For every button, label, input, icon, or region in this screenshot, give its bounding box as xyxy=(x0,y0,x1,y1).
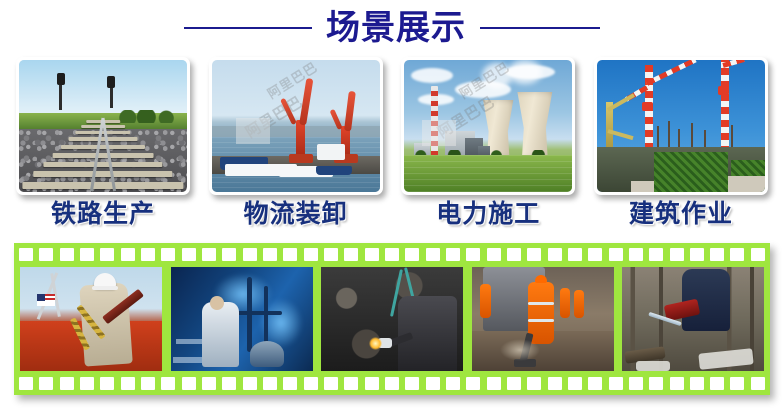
scene-label-railway: 铁路生产 xyxy=(16,198,190,234)
sprocket-hole xyxy=(80,377,94,390)
filmstrip-frame-2[interactable] xyxy=(171,267,313,371)
sprocket-row-top xyxy=(14,246,770,263)
sprocket-hole xyxy=(283,377,297,390)
sprocket-hole xyxy=(568,248,582,261)
sprocket-hole xyxy=(710,377,724,390)
sprocket-hole xyxy=(243,377,257,390)
filmstrip-frame-4[interactable] xyxy=(472,267,614,371)
sprocket-hole xyxy=(324,377,338,390)
sprocket-hole xyxy=(548,248,562,261)
worker-cutting-torch-photo xyxy=(321,267,463,371)
sprocket-hole xyxy=(263,248,277,261)
scene-label-building: 建筑作业 xyxy=(594,198,768,234)
sprocket-hole xyxy=(649,248,663,261)
sprocket-hole xyxy=(283,248,297,261)
sprocket-hole xyxy=(405,248,419,261)
sprocket-hole xyxy=(751,248,765,261)
sprocket-hole xyxy=(141,377,155,390)
sprocket-hole xyxy=(690,248,704,261)
sprocket-hole xyxy=(304,377,318,390)
sprocket-hole xyxy=(527,377,541,390)
sprocket-row-bottom xyxy=(14,375,770,392)
sprocket-hole xyxy=(426,248,440,261)
sprocket-hole xyxy=(344,377,358,390)
sprocket-hole xyxy=(527,248,541,261)
sprocket-hole xyxy=(365,248,379,261)
sprocket-hole xyxy=(60,248,74,261)
sprocket-hole xyxy=(365,377,379,390)
sprocket-hole xyxy=(385,248,399,261)
scene-photo-railway[interactable] xyxy=(16,57,190,195)
sprocket-hole xyxy=(344,248,358,261)
sprocket-hole xyxy=(670,248,684,261)
sprocket-hole xyxy=(80,248,94,261)
sprocket-hole xyxy=(39,248,53,261)
filmstrip-frame-3[interactable] xyxy=(321,267,463,371)
scene-photo-logistics[interactable]: 阿里巴巴 阿里巴巴 xyxy=(209,57,383,195)
title-rule-left xyxy=(184,27,312,29)
sprocket-hole xyxy=(19,377,33,390)
sprocket-hole xyxy=(202,377,216,390)
sprocket-hole xyxy=(609,377,623,390)
sprocket-hole xyxy=(100,248,114,261)
sprocket-hole xyxy=(507,248,521,261)
sprocket-hole xyxy=(324,248,338,261)
sprocket-hole xyxy=(304,248,318,261)
sprocket-hole xyxy=(182,248,196,261)
sprocket-hole xyxy=(39,377,53,390)
sprocket-hole xyxy=(263,377,277,390)
sprocket-hole xyxy=(121,248,135,261)
sprocket-hole xyxy=(466,377,480,390)
worker-rigging-chains-photo xyxy=(20,267,162,371)
sprocket-hole xyxy=(161,248,175,261)
page-title: 场景展示 xyxy=(326,11,466,45)
scene-photo-row: 阿里巴巴 阿里巴巴 xyxy=(0,57,784,197)
sprocket-hole xyxy=(670,377,684,390)
sprocket-hole xyxy=(751,377,765,390)
sprocket-hole xyxy=(446,377,460,390)
scene-label-logistics: 物流装卸 xyxy=(209,198,383,234)
sprocket-hole xyxy=(60,377,74,390)
sprocket-hole xyxy=(568,377,582,390)
scene-photo-building[interactable] xyxy=(594,57,768,195)
sprocket-hole xyxy=(202,248,216,261)
sprocket-hole xyxy=(141,248,155,261)
title-rule-right xyxy=(480,27,600,29)
sprocket-hole xyxy=(507,377,521,390)
sprocket-hole xyxy=(121,377,135,390)
filmstrip-frames xyxy=(20,267,764,371)
scene-photo-power[interactable]: 阿里巴巴 阿里巴巴 xyxy=(401,57,575,195)
sprocket-hole xyxy=(100,377,114,390)
filmstrip-gallery xyxy=(14,243,770,395)
sprocket-hole xyxy=(19,248,33,261)
sprocket-hole xyxy=(548,377,562,390)
sprocket-hole xyxy=(588,248,602,261)
sprocket-hole xyxy=(182,377,196,390)
sprocket-hole xyxy=(466,248,480,261)
road-crew-jackhammer-photo xyxy=(472,267,614,371)
sprocket-hole xyxy=(629,248,643,261)
sprocket-hole xyxy=(405,377,419,390)
page-title-bar: 场景展示 xyxy=(0,4,784,52)
sprocket-hole xyxy=(609,248,623,261)
technician-blue-lab-photo xyxy=(171,267,313,371)
sprocket-hole xyxy=(629,377,643,390)
sprocket-hole xyxy=(161,377,175,390)
worker-chainsaw-forest-photo xyxy=(622,267,764,371)
sprocket-hole xyxy=(710,248,724,261)
sprocket-hole xyxy=(487,248,501,261)
sprocket-hole xyxy=(222,377,236,390)
sprocket-hole xyxy=(730,377,744,390)
scene-label-row: 铁路生产 物流装卸 电力施工 建筑作业 xyxy=(0,198,784,234)
sprocket-hole xyxy=(385,377,399,390)
construction-tower-cranes-photo xyxy=(597,60,765,192)
sprocket-hole xyxy=(649,377,663,390)
sprocket-hole xyxy=(446,248,460,261)
sprocket-hole xyxy=(243,248,257,261)
scene-label-power: 电力施工 xyxy=(401,198,575,234)
filmstrip-frame-1[interactable] xyxy=(20,267,162,371)
sprocket-hole xyxy=(588,377,602,390)
power-plant-cooling-towers-photo: 阿里巴巴 阿里巴巴 xyxy=(404,60,572,192)
sprocket-hole xyxy=(222,248,236,261)
sprocket-hole xyxy=(730,248,744,261)
railway-tracks-photo xyxy=(19,60,187,192)
sprocket-hole xyxy=(487,377,501,390)
sprocket-hole xyxy=(426,377,440,390)
filmstrip-frame-5[interactable] xyxy=(622,267,764,371)
sprocket-hole xyxy=(690,377,704,390)
port-cranes-ships-photo: 阿里巴巴 阿里巴巴 xyxy=(212,60,380,192)
